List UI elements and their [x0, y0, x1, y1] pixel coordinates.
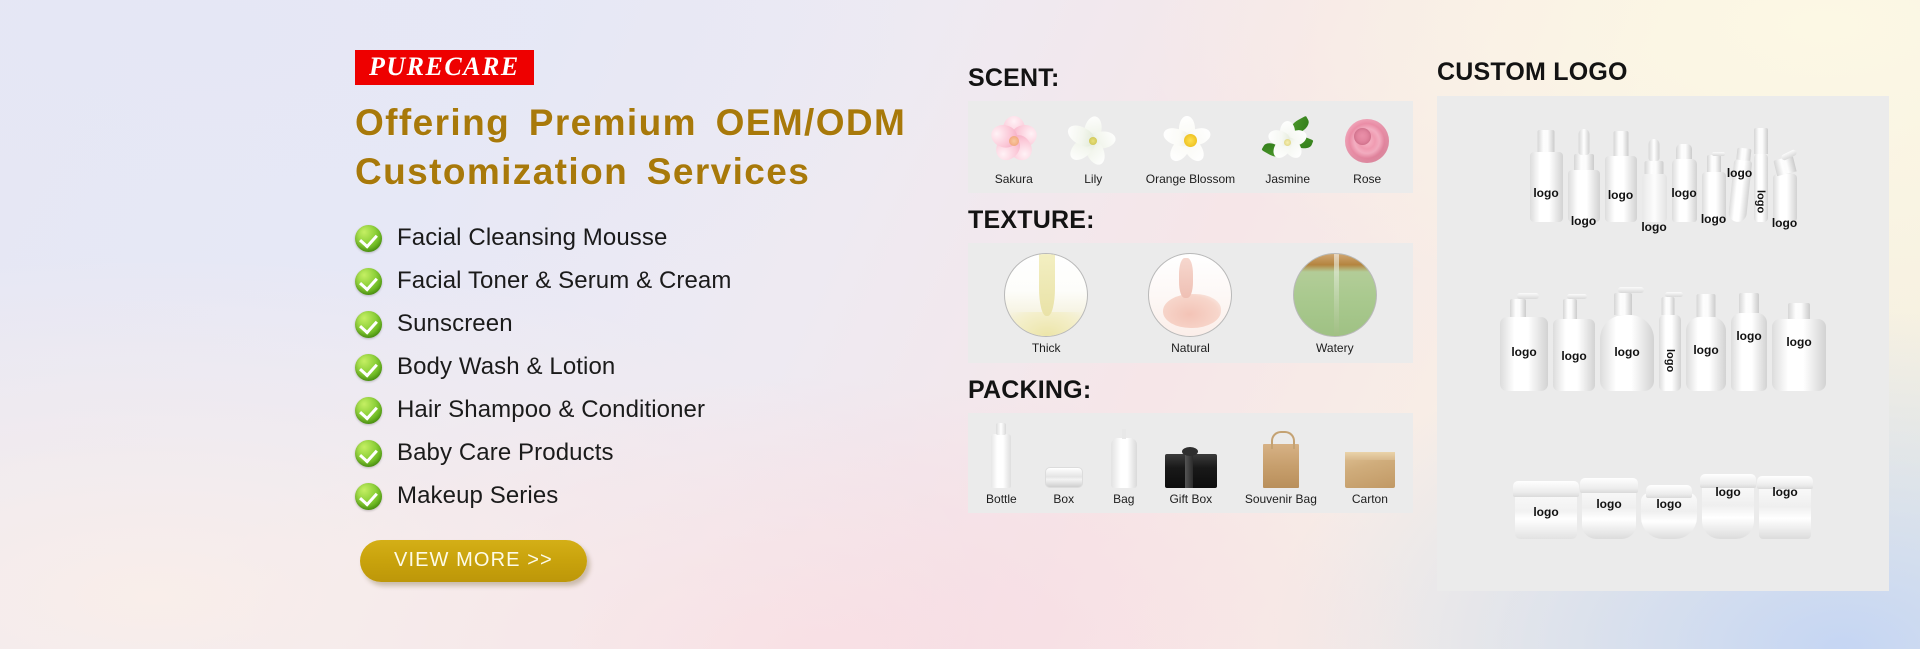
scent-options-panel: Sakura Lily [968, 101, 1413, 193]
gift-box-icon [1165, 426, 1217, 488]
logo-square-jar[interactable]: logo [1759, 485, 1811, 539]
lily-flower-icon [1066, 114, 1120, 168]
swatch-caption: Orange Blossom [1146, 172, 1235, 186]
list-item: Baby Care Products [355, 432, 955, 475]
swatch-caption: Gift Box [1169, 492, 1212, 506]
box-icon [1045, 426, 1083, 488]
sakura-flower-icon [987, 114, 1041, 168]
headline-line-2: Customization Services [355, 148, 955, 197]
feature-label: Facial Toner & Serum & Cream [397, 267, 731, 295]
swatch-caption: Lily [1084, 172, 1102, 186]
swatch-caption: Box [1053, 492, 1074, 506]
check-circle-icon [355, 483, 382, 510]
logo-spray-can[interactable]: logo [1672, 159, 1697, 222]
bottle-icon [991, 426, 1011, 488]
custom-logo-column: CUSTOM LOGO logo logo [1437, 58, 1889, 591]
logo-square-pump-bottle[interactable]: logo [1500, 317, 1548, 391]
packing-option-souvenir-bag[interactable]: Souvenir Bag [1245, 426, 1317, 506]
logo-serum-dropper[interactable]: logo [1642, 174, 1667, 222]
feature-label: Hair Shampoo & Conditioner [397, 396, 705, 424]
packing-option-gift-box[interactable]: Gift Box [1165, 426, 1217, 506]
texture-option-watery[interactable]: Watery [1293, 253, 1377, 355]
natural-texture-icon [1148, 253, 1232, 337]
swatch-caption: Natural [1171, 341, 1210, 355]
left-content-column: PURECARE Offering Premium OEM/ODM Custom… [355, 50, 955, 582]
swatch-caption: Thick [1032, 341, 1061, 355]
list-item: Facial Toner & Serum & Cream [355, 260, 955, 303]
custom-logo-title: CUSTOM LOGO [1437, 58, 1889, 87]
logo-soap-dispenser[interactable]: logo [1600, 315, 1654, 391]
packing-option-box[interactable]: Box [1045, 426, 1083, 506]
brand-badge: PURECARE [355, 50, 534, 85]
texture-options-panel: Thick Natural Watery [968, 243, 1413, 363]
swatch-caption: Bottle [986, 492, 1017, 506]
swatch-caption: Bag [1113, 492, 1134, 506]
promo-banner: PURECARE Offering Premium OEM/ODM Custom… [0, 0, 1920, 649]
logo-slim-stick[interactable]: logo [1754, 154, 1768, 222]
bag-icon [1111, 426, 1137, 488]
logo-clear-jar[interactable]: logo [1515, 491, 1577, 539]
texture-option-thick[interactable]: Thick [1004, 253, 1088, 355]
swatch-caption: Souvenir Bag [1245, 492, 1317, 506]
list-item: Facial Cleansing Mousse [355, 217, 955, 260]
list-item: Makeup Series [355, 475, 955, 518]
logo-slim-pump-bottle[interactable]: logo [1659, 315, 1681, 391]
scent-option-rose[interactable]: Rose [1340, 114, 1394, 186]
packing-option-bottle[interactable]: Bottle [986, 426, 1017, 506]
logo-label: logo [1641, 220, 1666, 234]
logo-tube[interactable]: logo [1731, 160, 1749, 222]
feature-label: Body Wash & Lotion [397, 353, 615, 381]
row-pump-bottles: logo logo logo [1451, 313, 1875, 391]
scent-option-orange-blossom[interactable]: Orange Blossom [1146, 114, 1235, 186]
options-column: SCENT: Sakura [968, 64, 1413, 513]
watery-texture-icon [1293, 253, 1377, 337]
feature-list: Facial Cleansing Mousse Facial Toner & S… [355, 217, 955, 518]
logo-shampoo-bottle[interactable]: logo [1731, 313, 1767, 391]
swatch-caption: Carton [1352, 492, 1388, 506]
texture-option-natural[interactable]: Natural [1148, 253, 1232, 355]
check-circle-icon [355, 440, 382, 467]
list-item: Hair Shampoo & Conditioner [355, 389, 955, 432]
packing-options-panel: Bottle Box Bag Gift Box Souvenir Bag Car… [968, 413, 1413, 513]
check-circle-icon [355, 311, 382, 338]
logo-round-pump-bottle[interactable]: logo [1553, 319, 1595, 391]
packing-option-carton[interactable]: Carton [1345, 426, 1395, 506]
scent-section-title: SCENT: [968, 64, 1413, 93]
feature-label: Baby Care Products [397, 439, 614, 467]
rose-flower-icon [1340, 114, 1394, 168]
list-item: Body Wash & Lotion [355, 346, 955, 389]
swatch-caption: Rose [1353, 172, 1381, 186]
logo-tall-jar[interactable]: logo [1702, 483, 1754, 539]
view-more-button[interactable]: VIEW MORE >> [360, 540, 587, 582]
custom-logo-panel: logo logo logo [1437, 96, 1889, 591]
swatch-caption: Sakura [995, 172, 1033, 186]
carton-icon [1345, 426, 1395, 488]
texture-section-title: TEXTURE: [968, 206, 1413, 235]
orange-blossom-flower-icon [1163, 114, 1217, 168]
scent-option-lily[interactable]: Lily [1066, 114, 1120, 186]
check-circle-icon [355, 397, 382, 424]
list-item: Sunscreen [355, 303, 955, 346]
packing-section-title: PACKING: [968, 376, 1413, 405]
check-circle-icon [355, 268, 382, 295]
logo-bottle[interactable]: logo [1530, 152, 1563, 222]
logo-round-jar[interactable]: logo [1641, 493, 1697, 539]
feature-label: Sunscreen [397, 310, 513, 338]
page-title: Offering Premium OEM/ODM Customization S… [355, 99, 955, 197]
check-circle-icon [355, 354, 382, 381]
logo-wide-flat-bottle[interactable]: logo [1772, 319, 1826, 391]
headline-line-1: Offering Premium OEM/ODM [355, 99, 955, 148]
feature-label: Facial Cleansing Mousse [397, 224, 667, 252]
check-circle-icon [355, 225, 382, 252]
swatch-caption: Jasmine [1265, 172, 1310, 186]
swatch-caption: Watery [1316, 341, 1354, 355]
thick-texture-icon [1004, 253, 1088, 337]
logo-trigger-spray[interactable]: logo [1773, 174, 1797, 222]
logo-cream-jar[interactable]: logo [1582, 487, 1636, 539]
row-bottles: logo logo logo [1451, 152, 1875, 222]
logo-tall-bottle[interactable]: logo [1605, 156, 1637, 222]
scent-option-sakura[interactable]: Sakura [987, 114, 1041, 186]
packing-option-bag[interactable]: Bag [1111, 426, 1137, 506]
feature-label: Makeup Series [397, 482, 558, 510]
logo-lotion-bottle[interactable]: logo [1686, 317, 1726, 391]
scent-option-jasmine[interactable]: Jasmine [1261, 114, 1315, 186]
logo-dropper-bottle[interactable]: logo [1568, 170, 1600, 222]
jasmine-flower-icon [1261, 114, 1315, 168]
row-jars: logo logo logo [1451, 483, 1875, 539]
souvenir-bag-icon [1263, 426, 1299, 488]
logo-airless-pump[interactable]: logo [1702, 172, 1726, 222]
